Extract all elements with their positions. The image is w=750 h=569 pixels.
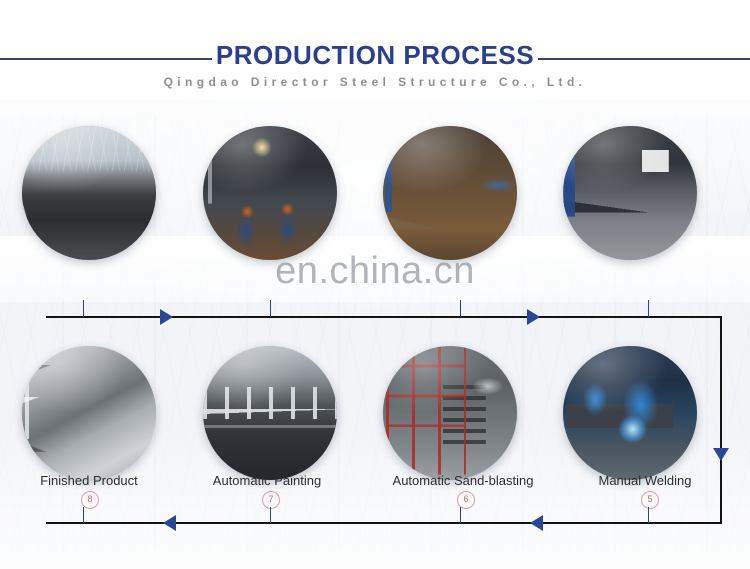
right-arrow-down-icon (713, 448, 729, 461)
step-photo-8 (22, 346, 156, 480)
top-arrow-2-icon (527, 309, 540, 325)
step-photo-5 (563, 346, 697, 480)
step-label-automatic-sand-blasting: Automatic Sand-blasting (373, 473, 553, 488)
company-subtitle: Qingdao Director Steel Structure Co., Lt… (0, 75, 750, 89)
step-photo-3 (383, 126, 517, 260)
step-badge-5: 5 (641, 491, 659, 509)
bottom-tick-4 (648, 507, 649, 523)
step-label-finished-product: Finished Product (0, 473, 179, 488)
step-photo-1 (22, 126, 156, 260)
photo-workers-at-machines (203, 126, 337, 260)
top-tick-2 (270, 300, 271, 317)
photo-steel-beams-assembly (383, 126, 517, 260)
top-arrow-1-icon (160, 309, 173, 325)
photo-automatic-painting-line (203, 346, 337, 480)
production-process-infographic: PRODUCTION PROCESS Qingdao Director Stee… (0, 0, 750, 569)
step-label-manual-welding: Manual Welding (555, 473, 735, 488)
bottom-flow-line (46, 522, 722, 524)
bottom-tick-2 (270, 507, 271, 523)
step-photo-6 (383, 346, 517, 480)
bottom-tick-1 (83, 507, 84, 523)
step-label-automatic-painting: Automatic Painting (177, 473, 357, 488)
photo-blue-machine-beams (563, 126, 697, 260)
bottom-tick-3 (460, 507, 461, 523)
step-photo-4 (563, 126, 697, 260)
top-tick-3 (460, 300, 461, 317)
photo-cnc-cutting-hall (22, 126, 156, 260)
step-badge-7: 7 (262, 491, 280, 509)
right-flow-line (720, 316, 722, 522)
bottom-arrow-2-icon (530, 515, 543, 531)
step-photo-2 (203, 126, 337, 260)
step-photo-7 (203, 346, 337, 480)
page-title: PRODUCTION PROCESS (0, 40, 750, 71)
photo-sand-blasting-machine (383, 346, 517, 480)
bottom-arrow-1-icon (163, 515, 176, 531)
top-tick-1 (83, 300, 84, 317)
header: PRODUCTION PROCESS Qingdao Director Stee… (0, 0, 750, 96)
top-flow-line (46, 316, 722, 318)
photo-finished-h-beam (22, 346, 156, 480)
photo-manual-welding (563, 346, 697, 480)
top-tick-4 (648, 300, 649, 317)
